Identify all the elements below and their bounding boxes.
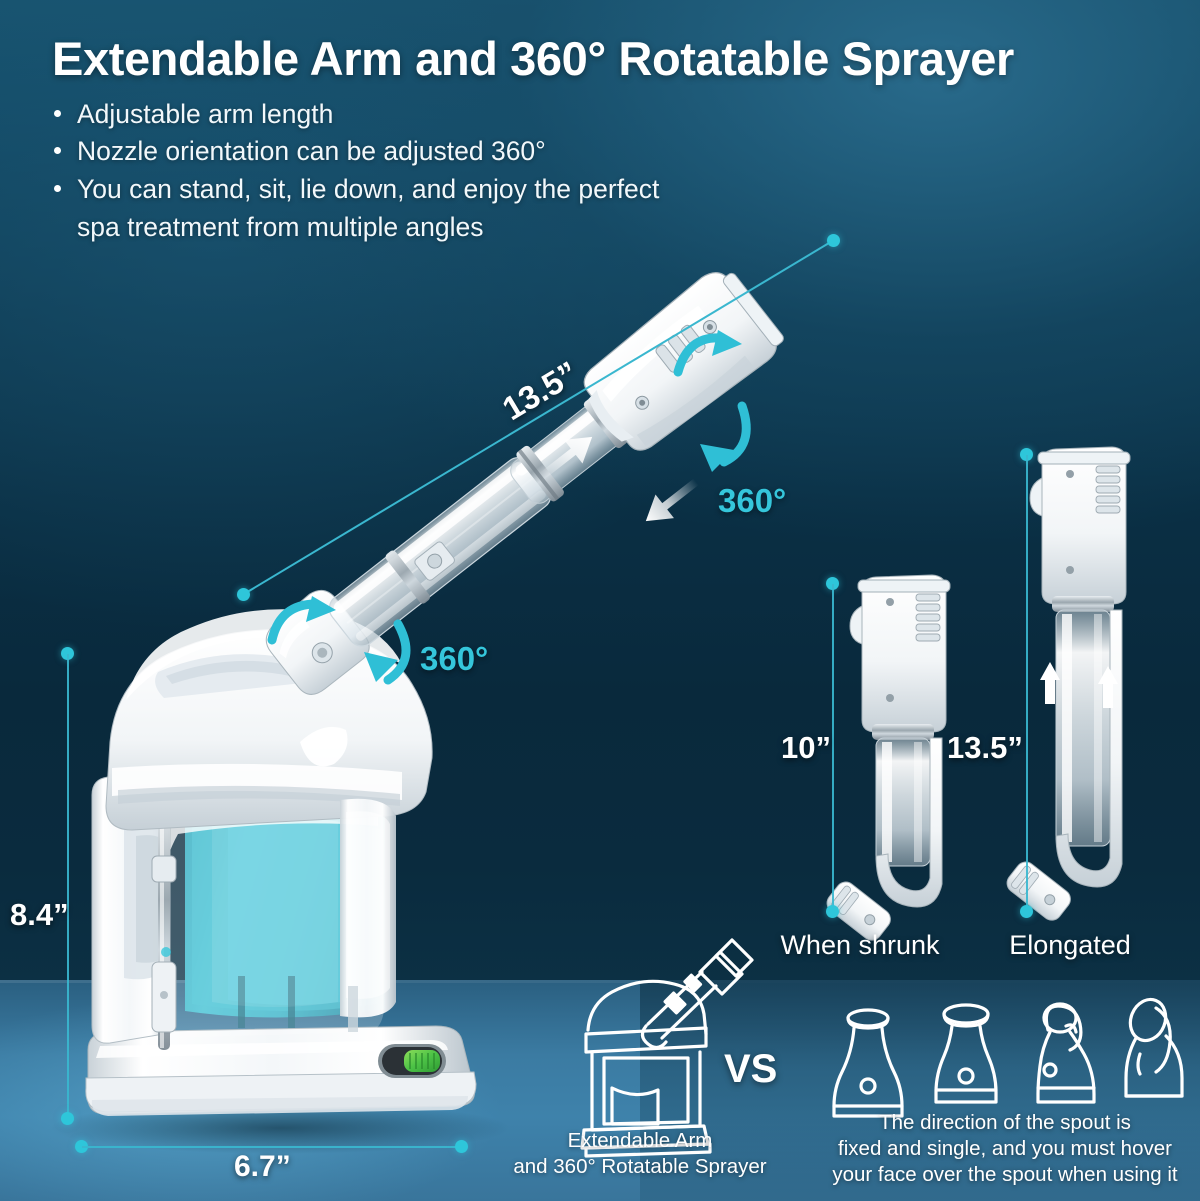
bullet-dot-icon [54, 185, 61, 192]
dim-dot-width-right [455, 1140, 468, 1153]
nozzle-rot-arrowhead-top [712, 330, 742, 356]
elongated-caption: Elongated [960, 930, 1180, 961]
dim-dot-shrunk-bottom [826, 905, 839, 918]
dim-line-width [82, 1146, 460, 1148]
feature-bullet-4-text: spa treatment from multiple angles [77, 212, 484, 242]
main-unit-dome [106, 609, 432, 830]
elongate-up-arrows [1040, 662, 1118, 708]
arm-length-label: 13.5” [496, 354, 585, 428]
extendable-arm [253, 260, 789, 712]
feature-bullet-2: Nozzle orientation can be adjusted 360° [52, 133, 1172, 171]
bullet-dot-icon [54, 147, 61, 154]
shrunk-length-label: 10” [781, 730, 831, 766]
comparison-right-caption-line1: The direction of the spout is [810, 1110, 1200, 1136]
extend-retract-arrows [533, 425, 706, 533]
comparison-right-caption-line3: your face over the spout when using it [810, 1162, 1200, 1188]
feature-bullet-list: Adjustable arm length Nozzle orientation… [52, 96, 1172, 247]
comparison-right-caption: The direction of the spout is fixed and … [810, 1110, 1200, 1189]
page-title: Extendable Arm and 360° Rotatable Spraye… [52, 34, 1172, 84]
feature-bullet-2-text: Nozzle orientation can be adjusted 360° [77, 136, 546, 166]
nozzle-rotation-arrows [678, 338, 746, 462]
arm-shrunk-illustration [823, 575, 950, 944]
bullet-dot-icon [54, 110, 61, 117]
vs-label: VS [724, 1047, 777, 1092]
header-block: Extendable Arm and 360° Rotatable Spraye… [52, 34, 1172, 246]
dim-line-shrunk [832, 584, 834, 911]
feature-bullet-1: Adjustable arm length [52, 96, 1172, 134]
feature-bullet-3: You can stand, sit, lie down, and enjoy … [52, 171, 1172, 209]
nozzle-rotation-label: 360° [718, 482, 786, 520]
arm-length-dimension [244, 240, 834, 594]
joint-rot-arrowhead-bottom [364, 652, 398, 682]
height-label: 8.4” [10, 897, 69, 933]
infographic-canvas: Extendable Arm and 360° Rotatable Spraye… [0, 0, 1200, 1201]
joint-rotation-arrows [272, 604, 406, 680]
dim-dot-arm-bottom [237, 588, 250, 601]
feature-bullet-3-text: You can stand, sit, lie down, and enjoy … [77, 174, 659, 204]
arm-elongated-illustration [1003, 447, 1130, 924]
base-width-label: 6.7” [234, 1150, 291, 1184]
dim-line-height [67, 654, 69, 1118]
nozzle-rot-arrowhead-bottom [700, 444, 734, 472]
comparison-right-caption-line2: fixed and single, and you must hover [810, 1136, 1200, 1162]
comparison-left-caption-line1: Extendable Arm [505, 1128, 775, 1154]
dim-line-elong [1026, 455, 1028, 911]
elongated-length-label: 13.5” [947, 730, 1023, 766]
joint-rotation-label: 360° [420, 640, 488, 678]
dim-dot-arm-top [827, 234, 840, 247]
feature-bullet-3-continued: spa treatment from multiple angles [52, 209, 1172, 247]
sprayer-nozzle-head [569, 260, 789, 464]
feature-bullet-1-text: Adjustable arm length [77, 99, 333, 129]
joint-rot-arrowhead-top [306, 596, 336, 622]
shrunk-caption: When shrunk [760, 930, 960, 961]
comparison-left-caption: Extendable Arm and 360° Rotatable Spraye… [505, 1128, 775, 1180]
arm-lower-joint [257, 583, 375, 701]
dim-dot-height-bottom [61, 1112, 74, 1125]
comparison-left-caption-line2: and 360° Rotatable Sprayer [505, 1154, 775, 1180]
dim-dot-elong-bottom [1020, 905, 1033, 918]
